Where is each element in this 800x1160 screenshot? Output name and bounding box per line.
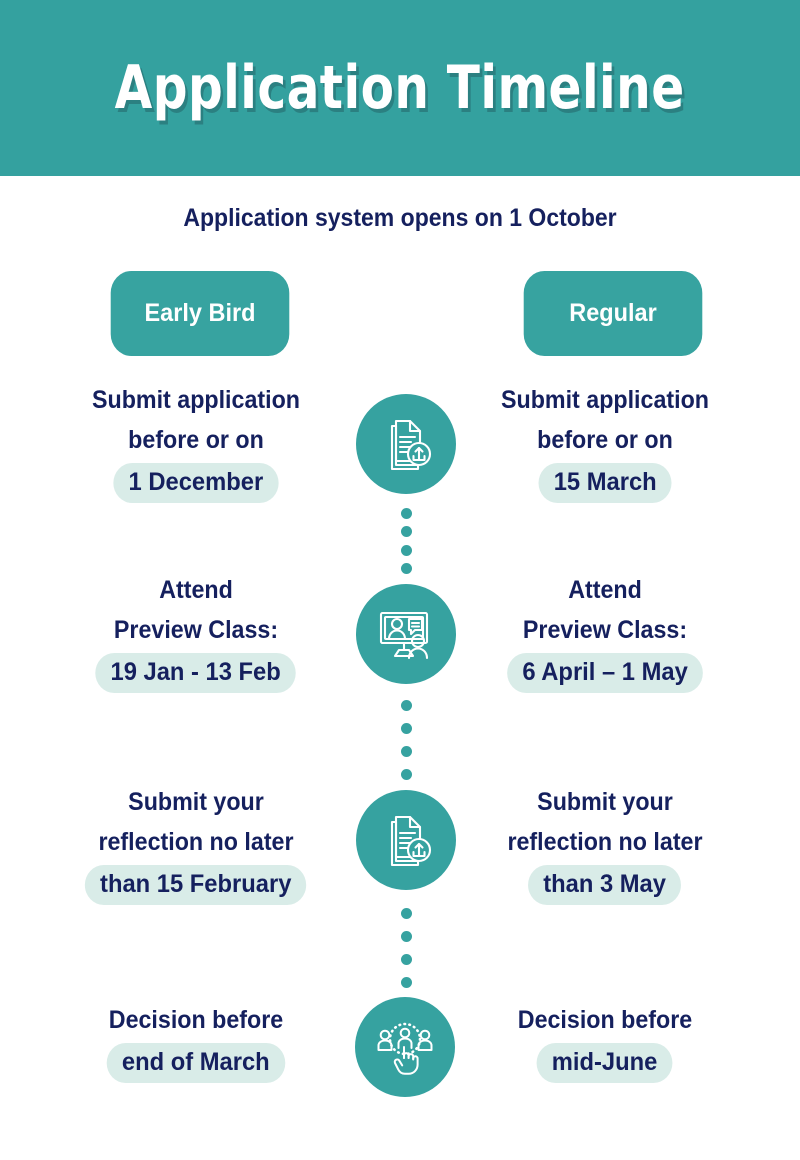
- step-text-line: Decision before: [466, 1000, 745, 1040]
- connector-dot: [401, 526, 412, 537]
- step-1-regular: Submit application before or on 15 March: [455, 380, 755, 503]
- step-text-line: Decision before: [57, 1000, 336, 1040]
- step-text-line: Preview Class:: [57, 610, 336, 650]
- timeline-connector: [398, 908, 414, 988]
- candidate-selection-icon: [373, 1015, 437, 1079]
- connector-dot: [401, 700, 412, 711]
- connector-dot: [401, 545, 412, 556]
- step-text-line: Preview Class:: [466, 610, 745, 650]
- step-text-line: Submit application: [466, 380, 745, 420]
- track-badge-regular: Regular: [524, 271, 703, 356]
- timeline-connector: [398, 700, 414, 780]
- step-2-early-bird: Attend Preview Class: 19 Jan - 13 Feb: [46, 570, 346, 693]
- step-text-line: Attend: [57, 570, 336, 610]
- date-pill: than 15 February: [85, 865, 307, 905]
- step-text-line: Submit your: [57, 782, 336, 822]
- step-3-early-bird: Submit your reflection no later than 15 …: [46, 782, 346, 905]
- step-1-icon-circle: [356, 394, 456, 494]
- header-banner: Application Timeline: [0, 0, 800, 176]
- connector-dot: [401, 723, 412, 734]
- connector-dot: [401, 954, 412, 965]
- date-pill: 1 December: [113, 463, 278, 503]
- step-4-early-bird: Decision before end of March: [46, 1000, 346, 1083]
- date-pill: end of March: [107, 1043, 285, 1083]
- step-3-regular: Submit your reflection no later than 3 M…: [455, 782, 755, 905]
- step-4-icon-circle: [355, 997, 455, 1097]
- timeline-connector: [398, 508, 414, 574]
- date-pill: 15 March: [538, 463, 671, 503]
- step-4-regular: Decision before mid-June: [455, 1000, 755, 1083]
- page-title: Application Timeline: [115, 53, 685, 123]
- date-pill: 6 April – 1 May: [507, 653, 703, 693]
- step-text-line: Attend: [466, 570, 745, 610]
- infographic-page: Application Timeline Application system …: [0, 0, 800, 1160]
- online-class-icon: [373, 601, 439, 667]
- step-text-line: reflection no later: [57, 822, 336, 862]
- connector-dot: [401, 977, 412, 988]
- step-text-line: before or on: [57, 420, 336, 460]
- connector-dot: [401, 931, 412, 942]
- document-upload-icon: [374, 412, 438, 476]
- step-2-icon-circle: [356, 584, 456, 684]
- connector-dot: [401, 908, 412, 919]
- step-text-line: before or on: [466, 420, 745, 460]
- connector-dot: [401, 563, 412, 574]
- track-badge-early-bird: Early Bird: [111, 271, 290, 356]
- date-pill: mid-June: [537, 1043, 673, 1083]
- connector-dot: [401, 769, 412, 780]
- step-text-line: reflection no later: [466, 822, 745, 862]
- date-pill: 19 Jan - 13 Feb: [96, 653, 297, 693]
- step-3-icon-circle: [356, 790, 456, 890]
- date-pill: than 3 May: [528, 865, 681, 905]
- connector-dot: [401, 508, 412, 519]
- document-upload-icon: [374, 808, 438, 872]
- step-text-line: Submit application: [57, 380, 336, 420]
- step-1-early-bird: Submit application before or on 1 Decemb…: [46, 380, 346, 503]
- step-text-line: Submit your: [466, 782, 745, 822]
- step-2-regular: Attend Preview Class: 6 April – 1 May: [455, 570, 755, 693]
- connector-dot: [401, 746, 412, 757]
- subtitle-text: Application system opens on 1 October: [32, 204, 768, 233]
